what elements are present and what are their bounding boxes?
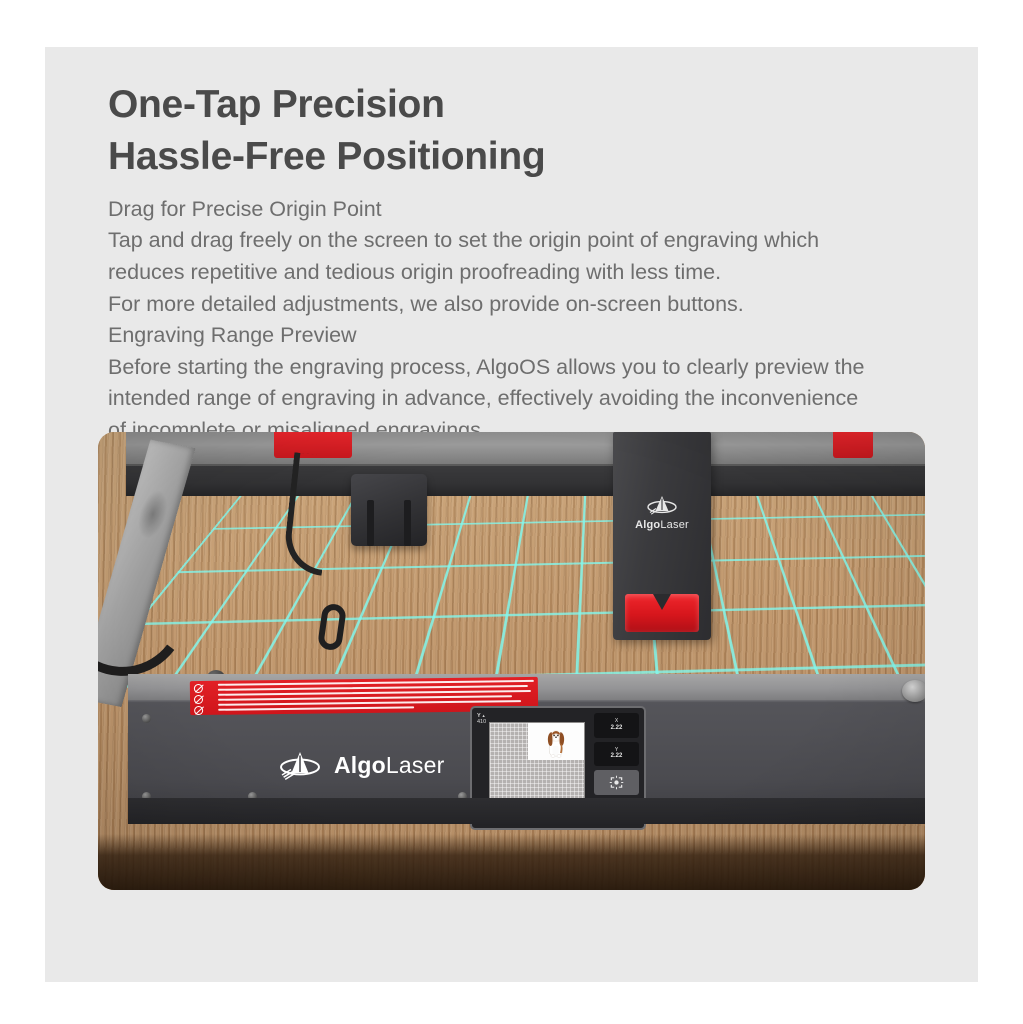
algolaser-a-ring-icon [645,494,679,516]
warning-prohibition-icons [194,684,203,715]
body-copy: Drag for Precise Origin Point Tap and dr… [108,194,953,447]
chassis-brand-logo: AlgoLaser [276,749,444,781]
x-axis-carriage [351,474,427,546]
y-axis-max: 410 [477,719,486,725]
no-eye-exposure-icon [194,684,203,693]
y-axis-label: Y 410 [477,713,486,726]
y-coordinate-button[interactable]: Y 2.22 [594,742,639,767]
chassis-end-knob[interactable] [902,680,925,702]
chassis-screw [142,714,151,723]
body-line-7: intended range of engraving in advance, … [108,383,953,415]
brand-light: Laser [386,752,445,778]
body-line-2: Tap and drag freely on the screen to set… [108,225,953,257]
x-coordinate-button[interactable]: X 2.22 [594,713,639,738]
laser-head-logo: AlgoLaser [613,494,711,531]
machine-chassis: laser-safety-warning-sticker AlgoLaser [128,674,925,824]
focus-frame-button[interactable] [594,770,639,795]
page-root: One-Tap Precision Hassle-Free Positionin… [0,0,1023,1024]
headline-line-1: One-Tap Precision [108,79,953,131]
rear-rail [126,432,925,466]
product-photo: AlgoLaser [98,432,925,890]
headline-line-2: Hassle-Free Positioning [108,131,953,183]
rail-front-face [126,466,925,496]
content-panel: One-Tap Precision Hassle-Free Positionin… [45,47,978,982]
dog-photo-icon [539,726,573,759]
carriage-strap [404,500,411,546]
red-end-cap-right [833,432,873,458]
carriage-strap [367,500,374,546]
body-line-1: Drag for Precise Origin Point [108,194,953,226]
laser-emitter-window [625,594,699,632]
page-title: One-Tap Precision Hassle-Free Positionin… [108,79,953,183]
x-button-value: 2.22 [611,725,623,733]
body-line-3: reduces repetitive and tedious origin pr… [108,257,953,289]
brand-bold: Algo [635,519,660,531]
algolaser-a-ring-icon [276,749,324,781]
body-line-5: Engraving Range Preview [108,320,953,352]
laser-module-head: AlgoLaser [613,432,711,640]
copy-block: One-Tap Precision Hassle-Free Positionin… [108,79,953,446]
laser-head-wordmark: AlgoLaser [613,519,711,531]
body-line-6: Before starting the engraving process, A… [108,352,953,384]
y-button-value: 2.22 [611,753,623,761]
focus-target-icon [609,775,624,790]
desk-shadow [98,834,925,890]
body-line-4: For more detailed adjustments, we also p… [108,289,953,321]
chassis-wordmark: AlgoLaser [334,752,444,779]
brand-light: Laser [660,519,689,531]
artwork-thumbnail[interactable] [528,723,584,760]
brand-bold: Algo [334,752,386,778]
chassis-bottom-edge [128,798,925,824]
no-unattended-icon [194,706,203,715]
no-flammable-icon [194,695,203,704]
